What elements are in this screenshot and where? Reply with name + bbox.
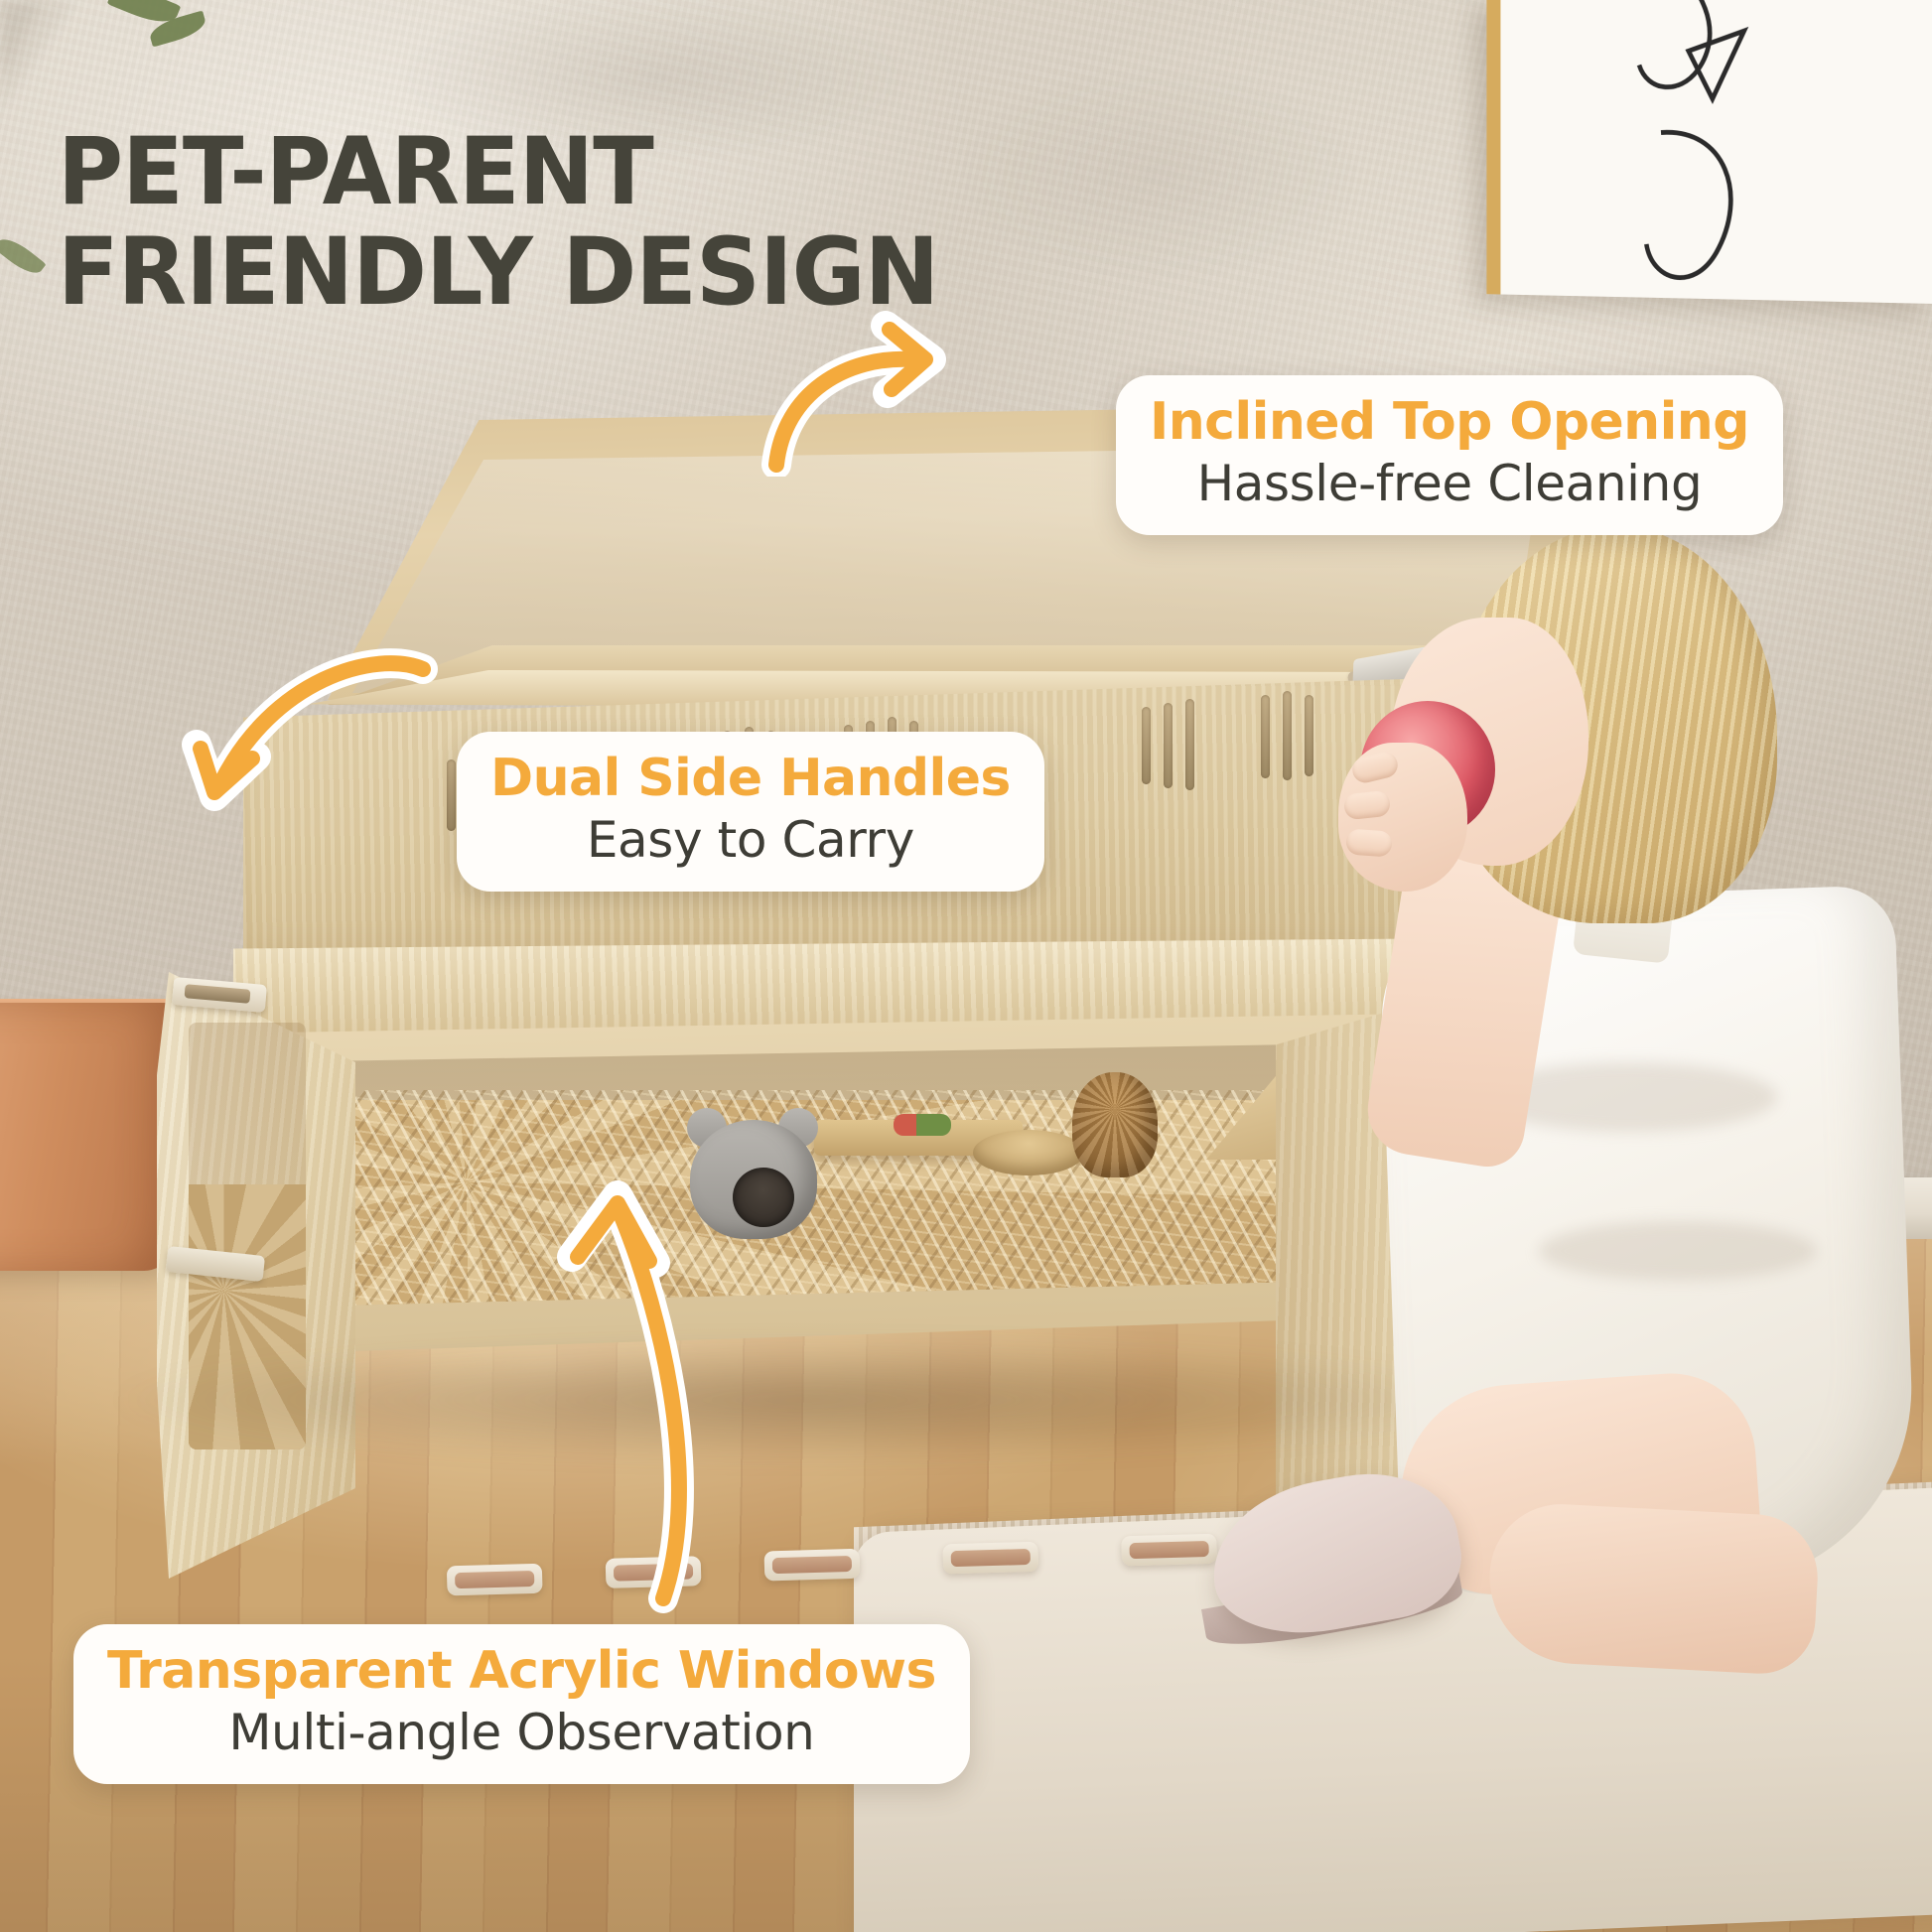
callout-subtitle: Multi-angle Observation <box>107 1704 936 1762</box>
callout-subtitle: Hassle-free Cleaning <box>1150 455 1749 513</box>
overlay-annotations: PET-PARENT FRIENDLY DESIGN Inclined Top … <box>0 0 1932 1932</box>
callout-transparent-acrylic-windows[interactable]: Transparent Acrylic Windows Multi-angle … <box>73 1624 970 1784</box>
callout-inclined-top-opening[interactable]: Inclined Top Opening Hassle-free Cleanin… <box>1116 375 1783 535</box>
product-infographic: PET-PARENT FRIENDLY DESIGN Inclined Top … <box>0 0 1932 1932</box>
callout-subtitle: Easy to Carry <box>490 811 1011 870</box>
headline-line-2: FRIENDLY DESIGN <box>58 222 1011 324</box>
page-title: PET-PARENT FRIENDLY DESIGN <box>58 122 1011 324</box>
callout-dual-side-handles[interactable]: Dual Side Handles Easy to Carry <box>457 732 1044 892</box>
callout-title: Transparent Acrylic Windows <box>107 1642 936 1700</box>
callout-title: Inclined Top Opening <box>1150 393 1749 451</box>
curved-arrow-left-icon <box>177 635 445 834</box>
curved-arrow-up-left-icon <box>516 1172 735 1628</box>
headline-line-1: PET-PARENT <box>58 122 1011 223</box>
callout-title: Dual Side Handles <box>490 750 1011 807</box>
